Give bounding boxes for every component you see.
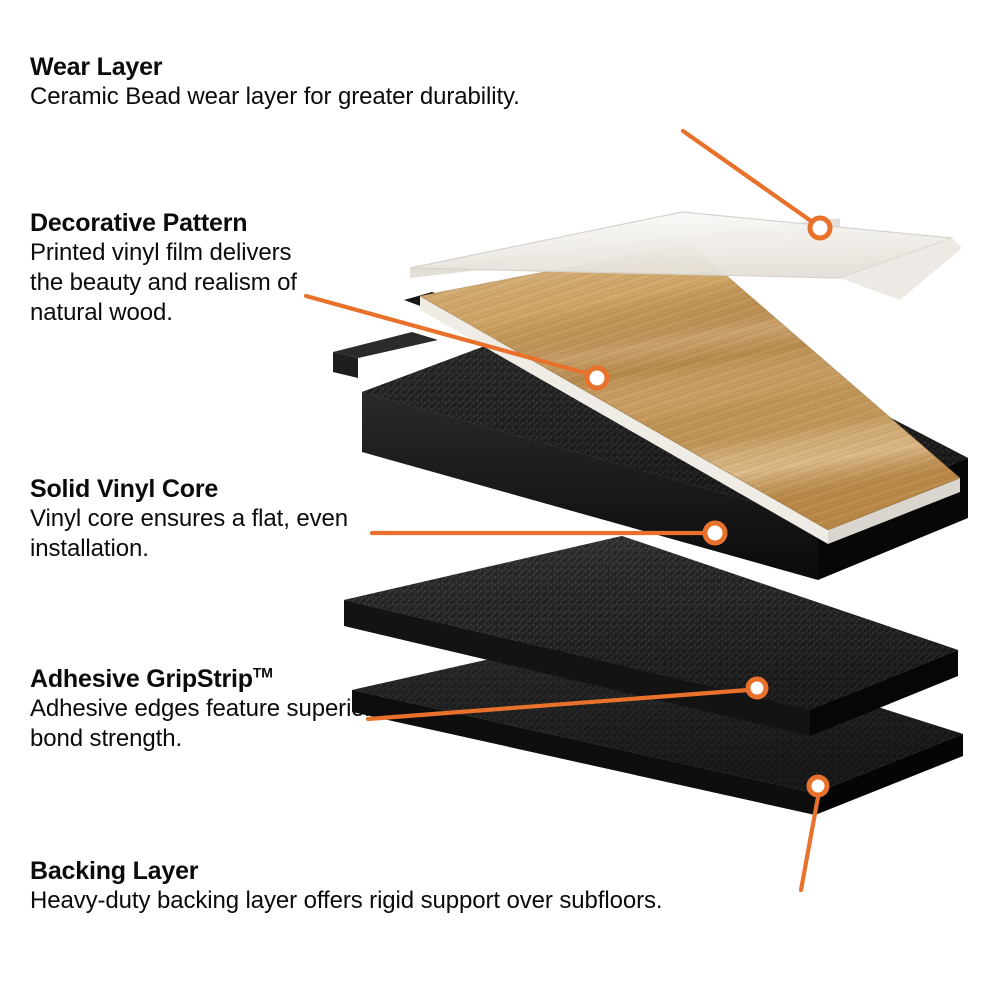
callout-label-wear-layer: Wear Layer Ceramic Bead wear layer for g…	[30, 52, 730, 112]
callout-marker-wear-layer[interactable]	[810, 218, 830, 238]
callout-marker-backing[interactable]	[809, 777, 827, 795]
callout-title-solid-vinyl-core: Solid Vinyl Core	[30, 474, 410, 504]
callout-title-adhesive-gripstrip: Adhesive GripStripTM	[30, 664, 430, 694]
diagram-canvas: Wear Layer Ceramic Bead wear layer for g…	[0, 0, 1000, 1000]
callout-marker-decorative[interactable]	[587, 368, 607, 388]
callout-line-decorative	[306, 296, 589, 374]
callout-marker-vinyl-core[interactable]	[705, 523, 725, 543]
callout-title-decorative-pattern: Decorative Pattern	[30, 208, 330, 238]
callout-description-backing-layer: Heavy-duty backing layer offers rigid su…	[30, 886, 930, 916]
trademark-symbol: TM	[253, 665, 273, 681]
callout-title-backing-layer: Backing Layer	[30, 856, 930, 886]
callout-description-solid-vinyl-core: Vinyl core ensures a flat, even installa…	[30, 504, 410, 564]
callout-title-wear-layer: Wear Layer	[30, 52, 730, 82]
callout-label-decorative-pattern: Decorative Pattern Printed vinyl film de…	[30, 208, 330, 328]
callout-marker-gripstrip[interactable]	[748, 679, 766, 697]
callout-description-decorative-pattern: Printed vinyl film delivers the beauty a…	[30, 238, 310, 328]
callout-label-backing-layer: Backing Layer Heavy-duty backing layer o…	[30, 856, 930, 916]
callout-label-adhesive-gripstrip: Adhesive GripStripTM Adhesive edges feat…	[30, 664, 430, 754]
callout-line-wear-layer	[683, 131, 811, 221]
callout-description-wear-layer: Ceramic Bead wear layer for greater dura…	[30, 82, 730, 112]
callout-title-gripstrip-text: Adhesive GripStrip	[30, 665, 253, 693]
callout-label-solid-vinyl-core: Solid Vinyl Core Vinyl core ensures a fl…	[30, 474, 410, 564]
callout-description-adhesive-gripstrip: Adhesive edges feature superior bond str…	[30, 694, 430, 754]
